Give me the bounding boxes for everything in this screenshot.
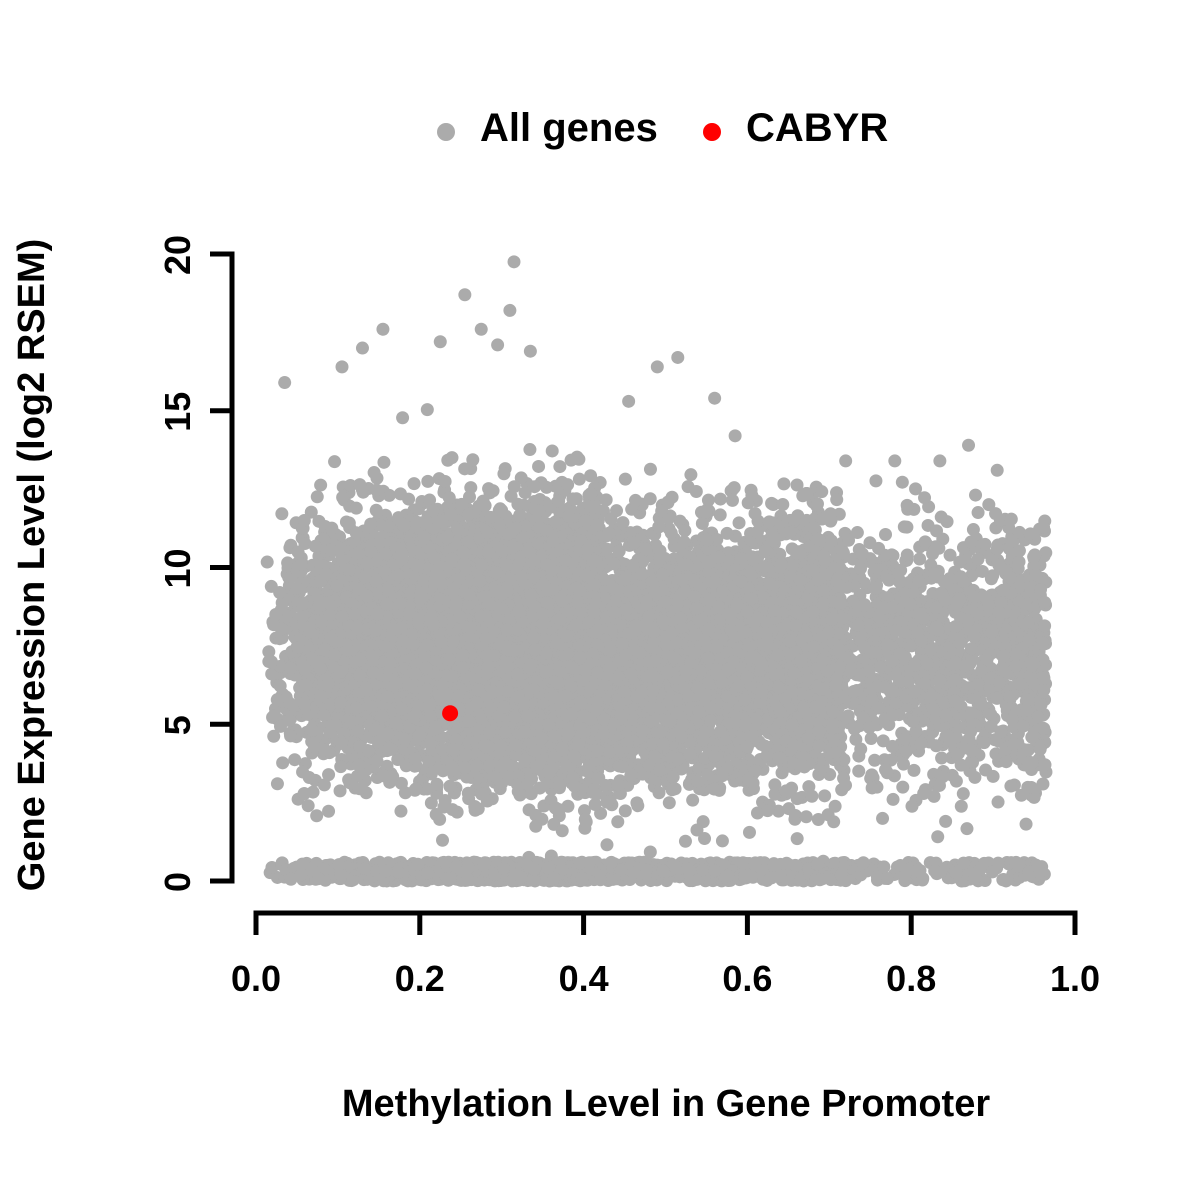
data-point [852, 765, 865, 778]
scatter-plot-figure: 051015200.00.20.40.60.81.0 All genesCABY… [0, 0, 1200, 1200]
data-point [497, 467, 510, 480]
data-point [408, 477, 421, 490]
data-point [421, 475, 434, 488]
data-point [969, 489, 982, 502]
data-point [854, 743, 867, 756]
data-point [967, 523, 980, 536]
data-point [394, 805, 407, 818]
data-point [896, 781, 909, 794]
data-point [714, 493, 727, 506]
data-point [532, 460, 545, 473]
data-point [328, 455, 341, 468]
data-point [663, 796, 676, 809]
data-point [271, 777, 284, 790]
data-point [743, 826, 756, 839]
data-point [679, 835, 692, 848]
data-point [869, 474, 882, 487]
data-point [314, 479, 327, 492]
data-point [791, 832, 804, 845]
data-point [686, 794, 699, 807]
data-point [905, 800, 918, 813]
data-point [879, 528, 892, 541]
data-point [630, 796, 643, 809]
data-point [868, 754, 881, 767]
plot-canvas: 051015200.00.20.40.60.81.0 All genesCABY… [0, 0, 1200, 1200]
data-point [443, 780, 456, 793]
data-point [900, 521, 913, 534]
data-point [957, 787, 970, 800]
data-point [887, 793, 900, 806]
data-point [865, 732, 878, 745]
data-point [311, 490, 324, 503]
data-point [818, 789, 831, 802]
data-point [955, 800, 968, 813]
